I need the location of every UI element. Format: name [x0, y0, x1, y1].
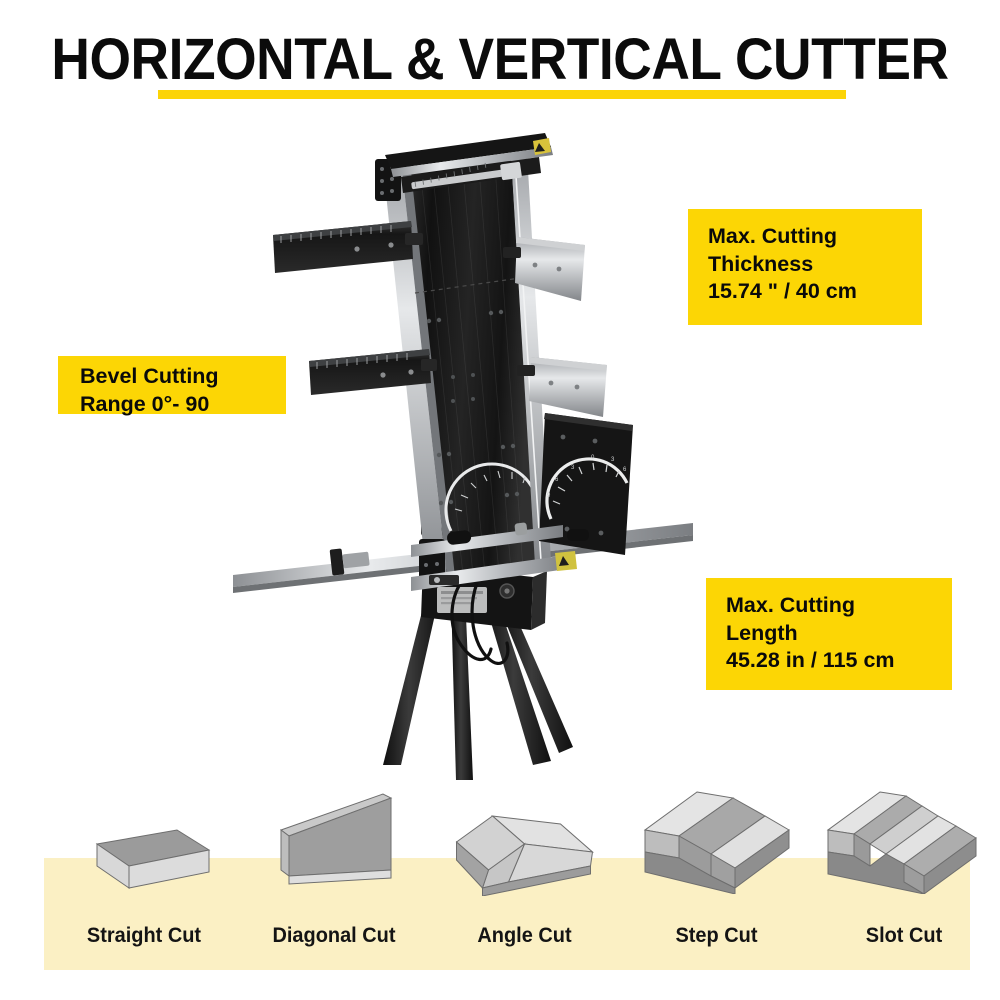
- infographic-canvas: HORIZONTAL & VERTICAL CUTTER: [0, 0, 1000, 1000]
- straight-cut-icon: [69, 810, 219, 905]
- callout-max-cutting-thickness: Max. Cutting Thickness 15.74 " / 40 cm: [688, 209, 922, 325]
- callout-bevel-cutting-range: Bevel Cutting Range 0°- 90: [58, 356, 286, 414]
- cut-type-label: Diagonal Cut: [239, 924, 429, 948]
- callout-line: Thickness: [708, 251, 922, 279]
- page-title: HORIZONTAL & VERTICAL CUTTER: [40, 26, 960, 93]
- step-cut-icon: [637, 782, 797, 899]
- cut-type-label: Straight Cut: [49, 924, 239, 948]
- cut-type-angle: Angle Cut: [422, 858, 627, 970]
- cut-type-step: Step Cut: [619, 858, 814, 970]
- cut-types-band: Straight Cut Diagonal Cut: [44, 858, 970, 970]
- title-underline: [158, 90, 846, 99]
- slot-cut-icon: [824, 782, 984, 899]
- callout-line: 45.28 in / 115 cm: [726, 647, 952, 675]
- cut-type-label: Step Cut: [624, 924, 809, 948]
- callout-line: Max. Cutting: [726, 592, 952, 620]
- angle-cut-icon: [442, 796, 607, 901]
- product-image: 96 30 36: [215, 125, 735, 785]
- callout-line: Max. Cutting: [708, 223, 922, 251]
- cut-type-label: Angle Cut: [427, 924, 622, 948]
- callout-line: Bevel Cutting: [80, 363, 286, 391]
- cut-type-straight: Straight Cut: [44, 858, 244, 970]
- callout-line: Length: [726, 620, 952, 648]
- cut-type-label: Slot Cut: [809, 924, 999, 948]
- callout-max-cutting-length: Max. Cutting Length 45.28 in / 115 cm: [706, 578, 952, 690]
- diagonal-cut-icon: [259, 786, 409, 901]
- callout-line: 15.74 " / 40 cm: [708, 278, 922, 306]
- warning-label: [533, 138, 551, 155]
- cut-type-diagonal: Diagonal Cut: [234, 858, 434, 970]
- cut-type-slot: Slot Cut: [804, 858, 1000, 970]
- callout-line: Range 0°- 90: [80, 391, 286, 419]
